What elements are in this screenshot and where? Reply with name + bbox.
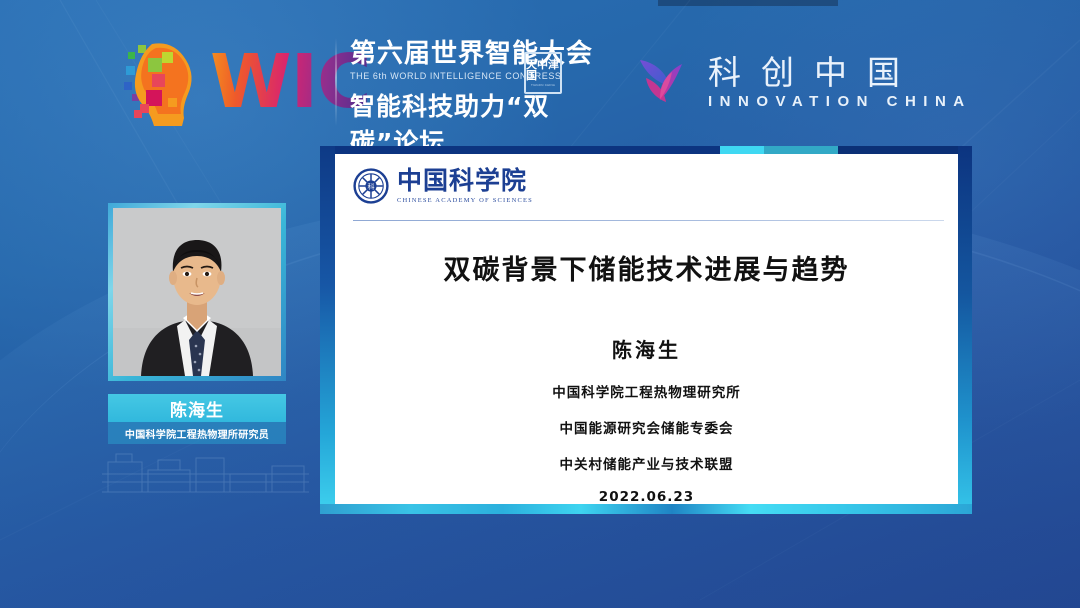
tianjin-seal-chars: 天中津国 [526, 59, 560, 81]
slide-container: 科 中国科学院 CHINESE ACADEMY OF SCIENCES 双碳背景… [320, 146, 972, 514]
wic-text-block: 第六届世界智能大会 THE 6th WORLD INTELLIGENCE CON… [350, 40, 600, 159]
skyline-lineart [98, 448, 313, 494]
affiliation-item: 中国科学院工程热物理研究所 [335, 381, 958, 401]
slide-affiliations: 中国科学院工程热物理研究所 中国能源研究会储能专委会 中关村储能产业与技术联盟 … [335, 381, 958, 521]
butterfly-mark-icon [632, 52, 694, 114]
cas-logo-block: 科 中国科学院 CHINESE ACADEMY OF SCIENCES [353, 168, 533, 204]
cas-name-cn: 中国科学院 [397, 168, 533, 193]
wic-logo-block: WIC [122, 36, 370, 128]
speaker-portrait [113, 208, 281, 376]
pixel-head-icon [122, 36, 206, 128]
slide-title: 双碳背景下储能技术进展与趋势 [335, 248, 958, 287]
header-divider [335, 38, 337, 126]
speaker-title: 中国科学院工程热物理所研究员 [108, 422, 286, 444]
top-shadow-bar [658, 0, 838, 6]
slide-canvas: 科 中国科学院 CHINESE ACADEMY OF SCIENCES 双碳背景… [335, 154, 958, 504]
innovation-china-cn: 科创中国 [708, 56, 972, 91]
slide-date: 2022.06.23 [335, 489, 958, 505]
speaker-name: 陈海生 [108, 394, 286, 422]
slide-top-border [320, 146, 972, 154]
presentation-stage: WIC 第六届世界智能大会 THE 6th WORLD INTELLIGENCE… [0, 0, 1080, 608]
slide-header-rule [353, 220, 944, 221]
wic-wordmark: WIC [210, 46, 370, 119]
speaker-nameplate: 陈海生 中国科学院工程热物理所研究员 [108, 394, 286, 444]
affiliation-item: 中关村储能产业与技术联盟 [335, 453, 958, 473]
congress-name-en: THE 6th WORLD INTELLIGENCE CONGRESS [350, 71, 600, 81]
congress-name-cn: 第六届世界智能大会 [350, 40, 600, 69]
cas-name-en: CHINESE ACADEMY OF SCIENCES [397, 197, 533, 204]
slide-left-border [320, 146, 335, 514]
tianjin-seal-tiny: TIANJIN CHINA [531, 83, 555, 87]
affiliation-item: 中国能源研究会储能专委会 [335, 417, 958, 437]
cas-seal-icon: 科 [353, 168, 389, 204]
slide-speaker-name: 陈海生 [335, 334, 958, 363]
svg-text:科: 科 [368, 182, 375, 191]
innovation-china-en: INNOVATION CHINA [708, 93, 972, 110]
speaker-portrait-frame [108, 203, 286, 381]
slide-right-border [958, 146, 972, 514]
innovation-china-logo-block: 科创中国 INNOVATION CHINA [632, 52, 972, 114]
tianjin-seal-icon: 天中津国 TIANJIN CHINA [524, 52, 562, 94]
